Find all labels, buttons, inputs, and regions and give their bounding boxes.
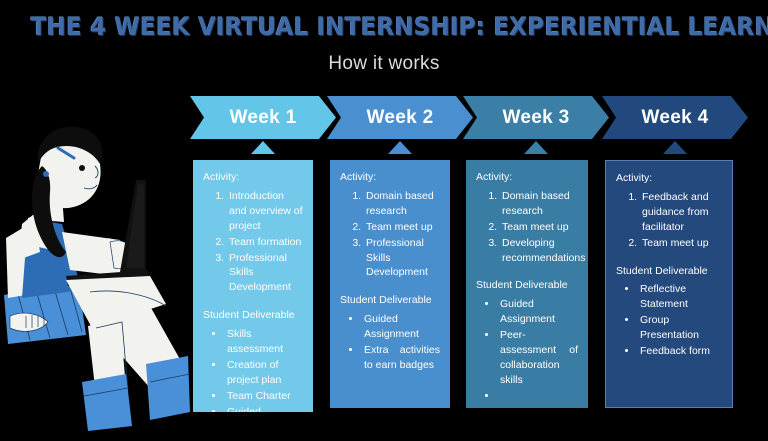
activity-list: Domain based research Team meet up Profe… [340, 189, 440, 280]
activity-item: Feedback and guidance from facilitator [640, 190, 722, 235]
deliverable-item: Group Presentation [638, 313, 722, 343]
week-card-2: Activity: Domain based research Team mee… [330, 160, 450, 408]
infographic-root: THE 4 WEEK VIRTUAL INTERNSHIP: EXPERIENT… [0, 0, 768, 441]
week-card-3: Activity: Domain based research Team mee… [466, 160, 588, 408]
deliverable-item: Guided Assignment [498, 297, 578, 327]
activity-item: Domain based research [364, 189, 440, 219]
deliverable-list: Guided Assignment Peer-assessment of col… [476, 297, 578, 403]
activity-list: Introduction and overview of project Tea… [203, 189, 303, 295]
activity-heading: Activity: [616, 171, 722, 186]
activity-item: Team formation [227, 235, 303, 250]
week-header-1[interactable]: Week 1 [190, 96, 336, 139]
spacer [203, 296, 303, 308]
activity-item: Team meet up [640, 236, 722, 251]
deliverable-item: Creation of project plan [225, 358, 303, 388]
deliverable-item: Team Charter [225, 389, 303, 404]
deliverable-list: Guided Assignment Extra activities to ea… [340, 312, 440, 373]
week-label: Week 1 [230, 107, 297, 129]
deliverable-item: Extra activities to earn badges [362, 343, 440, 373]
deliverable-item: Skills assessment [225, 327, 303, 357]
week-label: Week 2 [367, 107, 434, 129]
activity-item: Team meet up [364, 220, 440, 235]
deliverable-list: Reflective Statement Group Presentation … [616, 282, 722, 359]
week-label: Week 4 [642, 107, 709, 129]
deliverable-item: Guided Assignment [362, 312, 440, 342]
week-column-4[interactable]: Week 4 Activity: Feedback and guidance f… [602, 96, 748, 139]
activity-item: Developing recommendations [500, 236, 578, 266]
week-label: Week 3 [503, 107, 570, 129]
week-header-4[interactable]: Week 4 [602, 96, 748, 139]
activity-heading: Activity: [203, 170, 303, 185]
activity-item: Introduction and overview of project [227, 189, 303, 234]
deliverable-heading: Student Deliverable [616, 264, 722, 279]
activity-item: Domain based research [500, 189, 578, 219]
week-header-3[interactable]: Week 3 [463, 96, 609, 139]
pointer-triangle-icon [388, 141, 412, 154]
page-title: THE 4 WEEK VIRTUAL INTERNSHIP: EXPERIENT… [31, 12, 738, 41]
spacer [476, 266, 578, 278]
pointer-triangle-icon [524, 141, 548, 154]
activity-item: Team meet up [500, 220, 578, 235]
week-column-2[interactable]: Week 2 Activity: Domain based research T… [327, 96, 473, 139]
deliverable-item [498, 389, 578, 404]
pointer-triangle-icon [251, 141, 275, 154]
deliverable-heading: Student Deliverable [476, 278, 578, 293]
spacer [340, 281, 440, 293]
week-column-3[interactable]: Week 3 Activity: Domain based research T… [463, 96, 609, 139]
deliverable-heading: Student Deliverable [340, 293, 440, 308]
activity-list: Feedback and guidance from facilitator T… [616, 190, 722, 251]
woman-with-laptop-illustration [0, 120, 190, 431]
deliverable-item: Peer-assessment of collaboration skills [498, 328, 578, 388]
deliverable-item: Feedback form [638, 344, 722, 359]
deliverable-item: Guided Assignment [225, 405, 303, 412]
spacer [616, 252, 722, 264]
week-card-1: Activity: Introduction and overview of p… [193, 160, 313, 412]
activity-heading: Activity: [476, 170, 578, 185]
deliverable-list: Skills assessment Creation of project pl… [203, 327, 303, 412]
activity-item: Professional Skills Development [227, 251, 303, 296]
page-subtitle: How it works [0, 53, 768, 75]
deliverable-heading: Student Deliverable [203, 308, 303, 323]
week-column-1[interactable]: Week 1 Activity: Introduction and overvi… [190, 96, 336, 139]
activity-heading: Activity: [340, 170, 440, 185]
activity-list: Domain based research Team meet up Devel… [476, 189, 578, 266]
week-card-4: Activity: Feedback and guidance from fac… [605, 160, 733, 408]
week-header-2[interactable]: Week 2 [327, 96, 473, 139]
deliverable-item: Reflective Statement [638, 282, 722, 312]
activity-item: Professional Skills Development [364, 236, 440, 281]
pointer-triangle-icon [663, 141, 687, 154]
